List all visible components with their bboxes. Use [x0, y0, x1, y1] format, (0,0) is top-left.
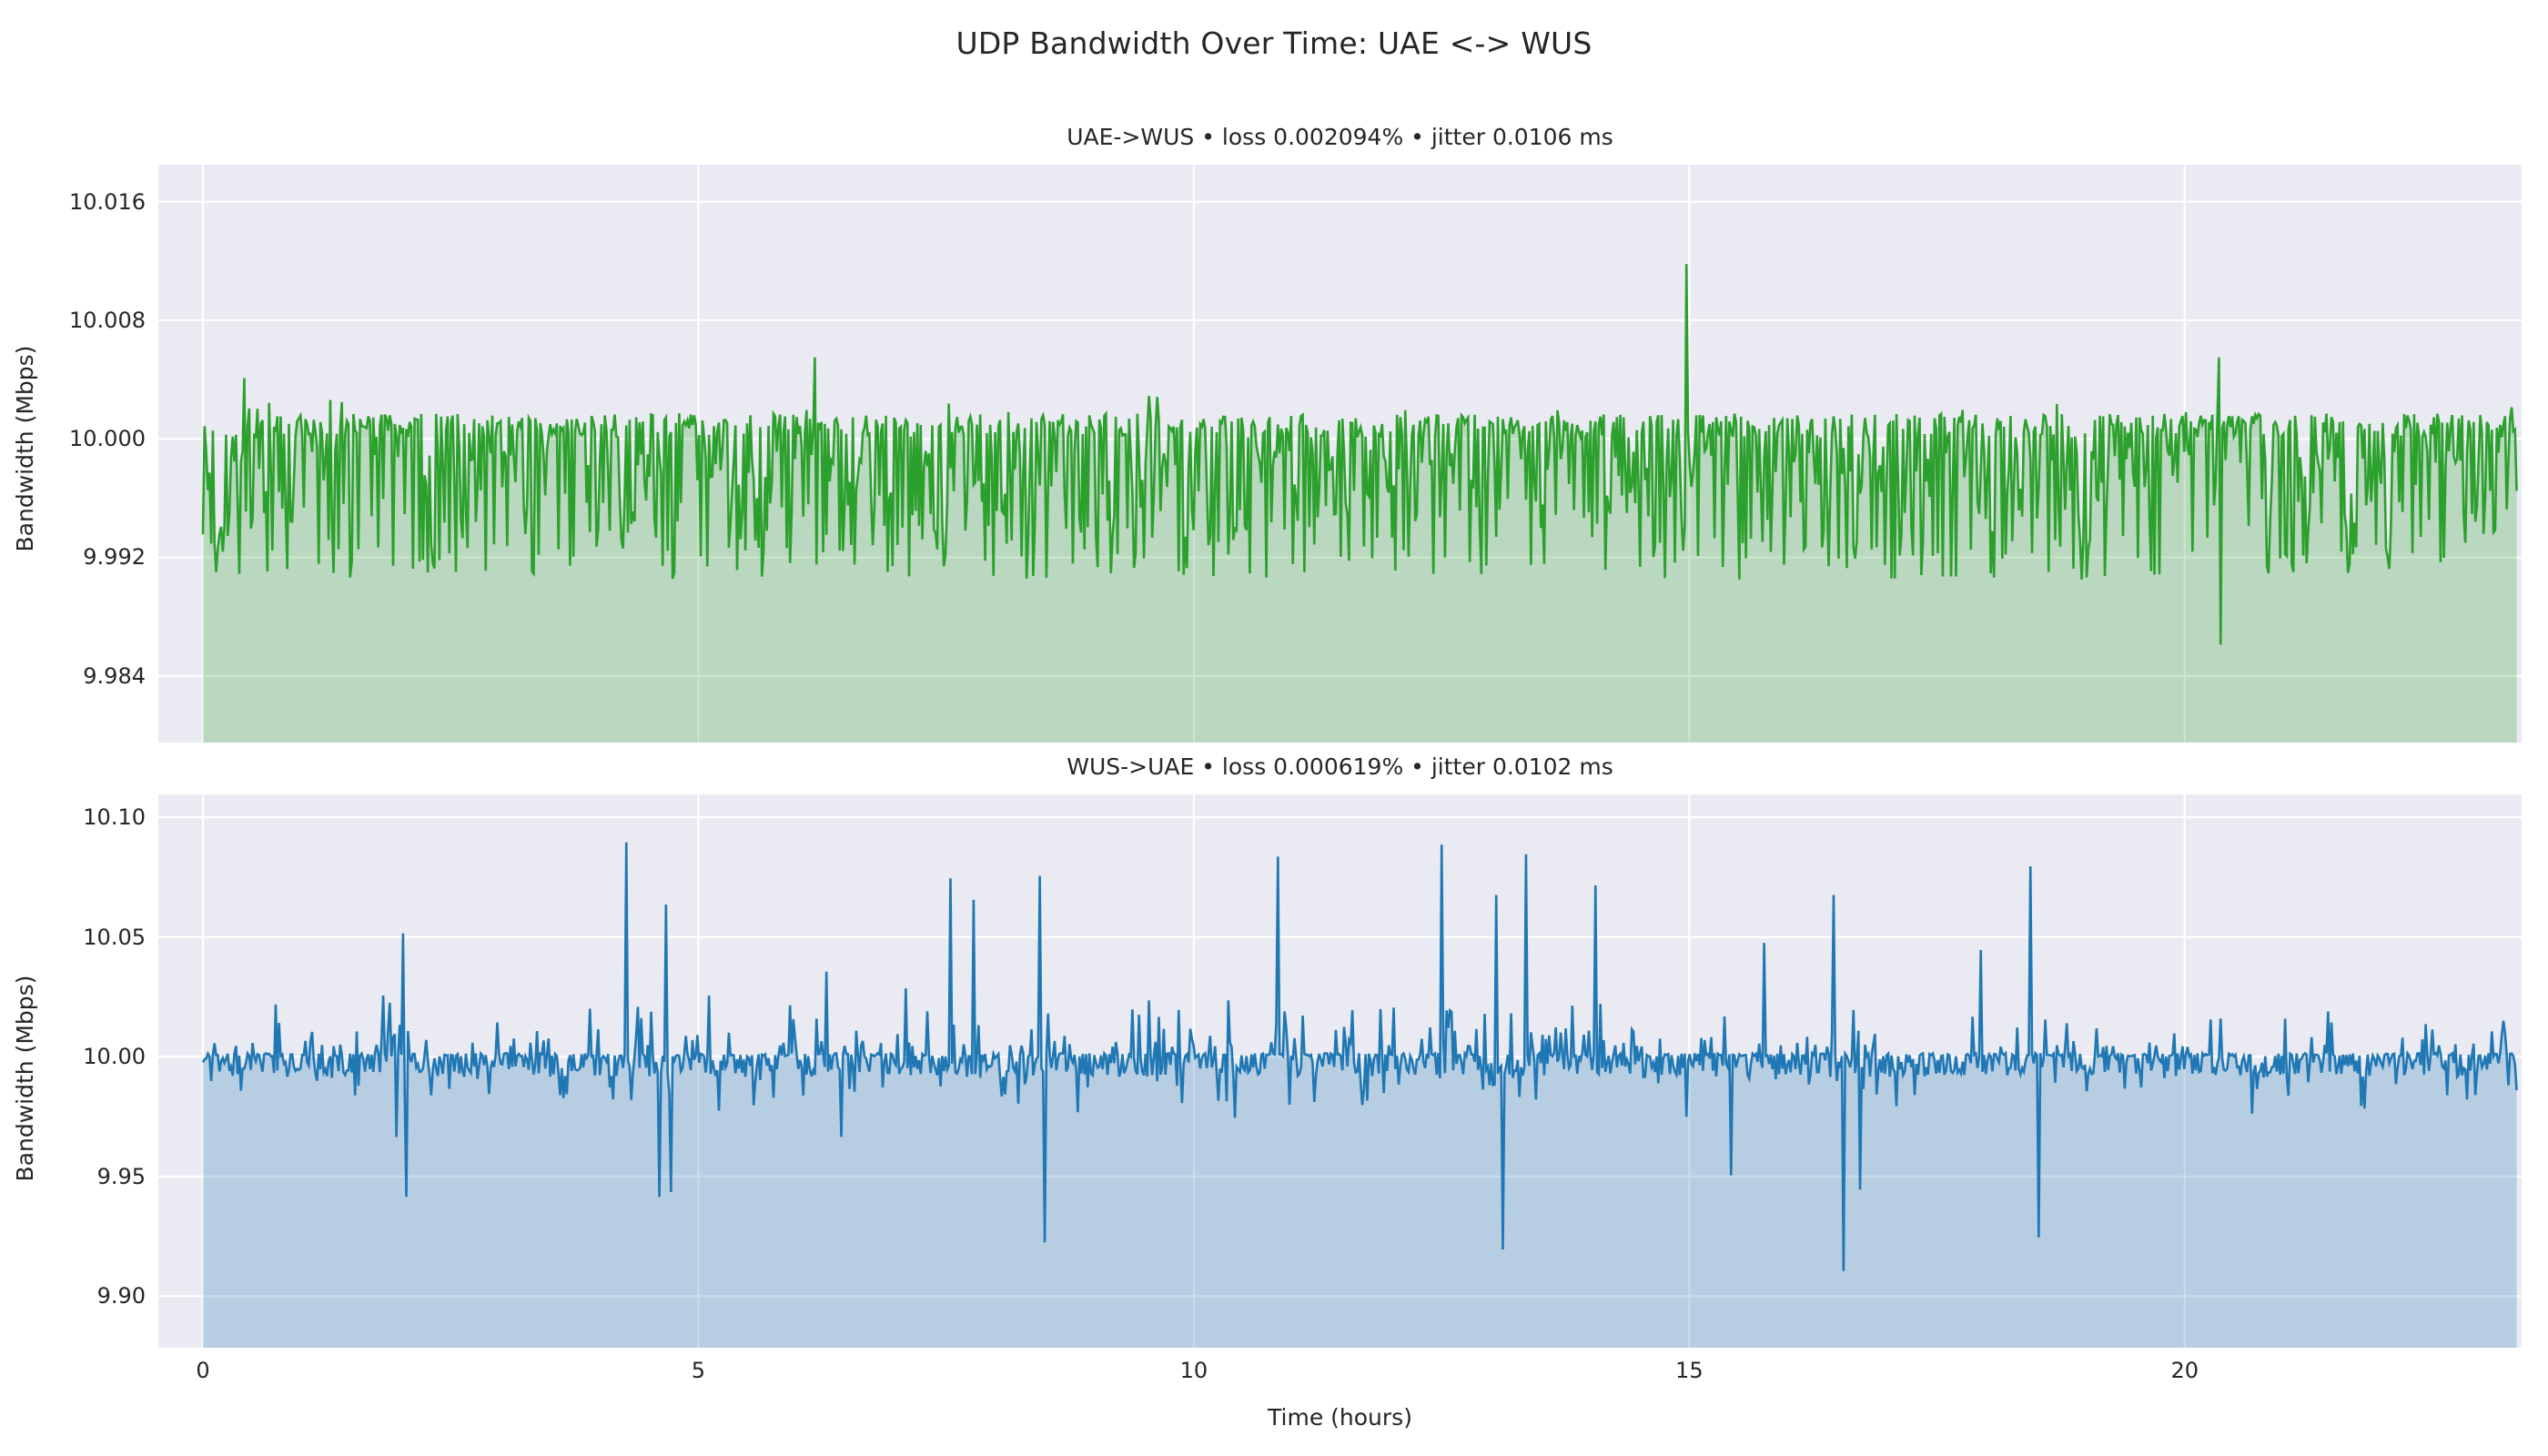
x-tick-label: 10 [1180, 1358, 1208, 1383]
x-tick-label: 5 [692, 1358, 705, 1383]
panel-wus-to-uae: WUS->UAE • loss 0.000619% • jitter 0.010… [0, 0, 2548, 1456]
x-axis-label: Time (hours) [158, 1404, 2522, 1431]
figure-canvas: UDP Bandwidth Over Time: UAE <-> WUS UAE… [0, 0, 2548, 1456]
x-tick-label: 20 [2170, 1358, 2199, 1383]
x-tick-label: 0 [196, 1358, 209, 1383]
x-tick-labels: 05101520 [0, 0, 2548, 1456]
x-tick-label: 15 [1675, 1358, 1704, 1383]
